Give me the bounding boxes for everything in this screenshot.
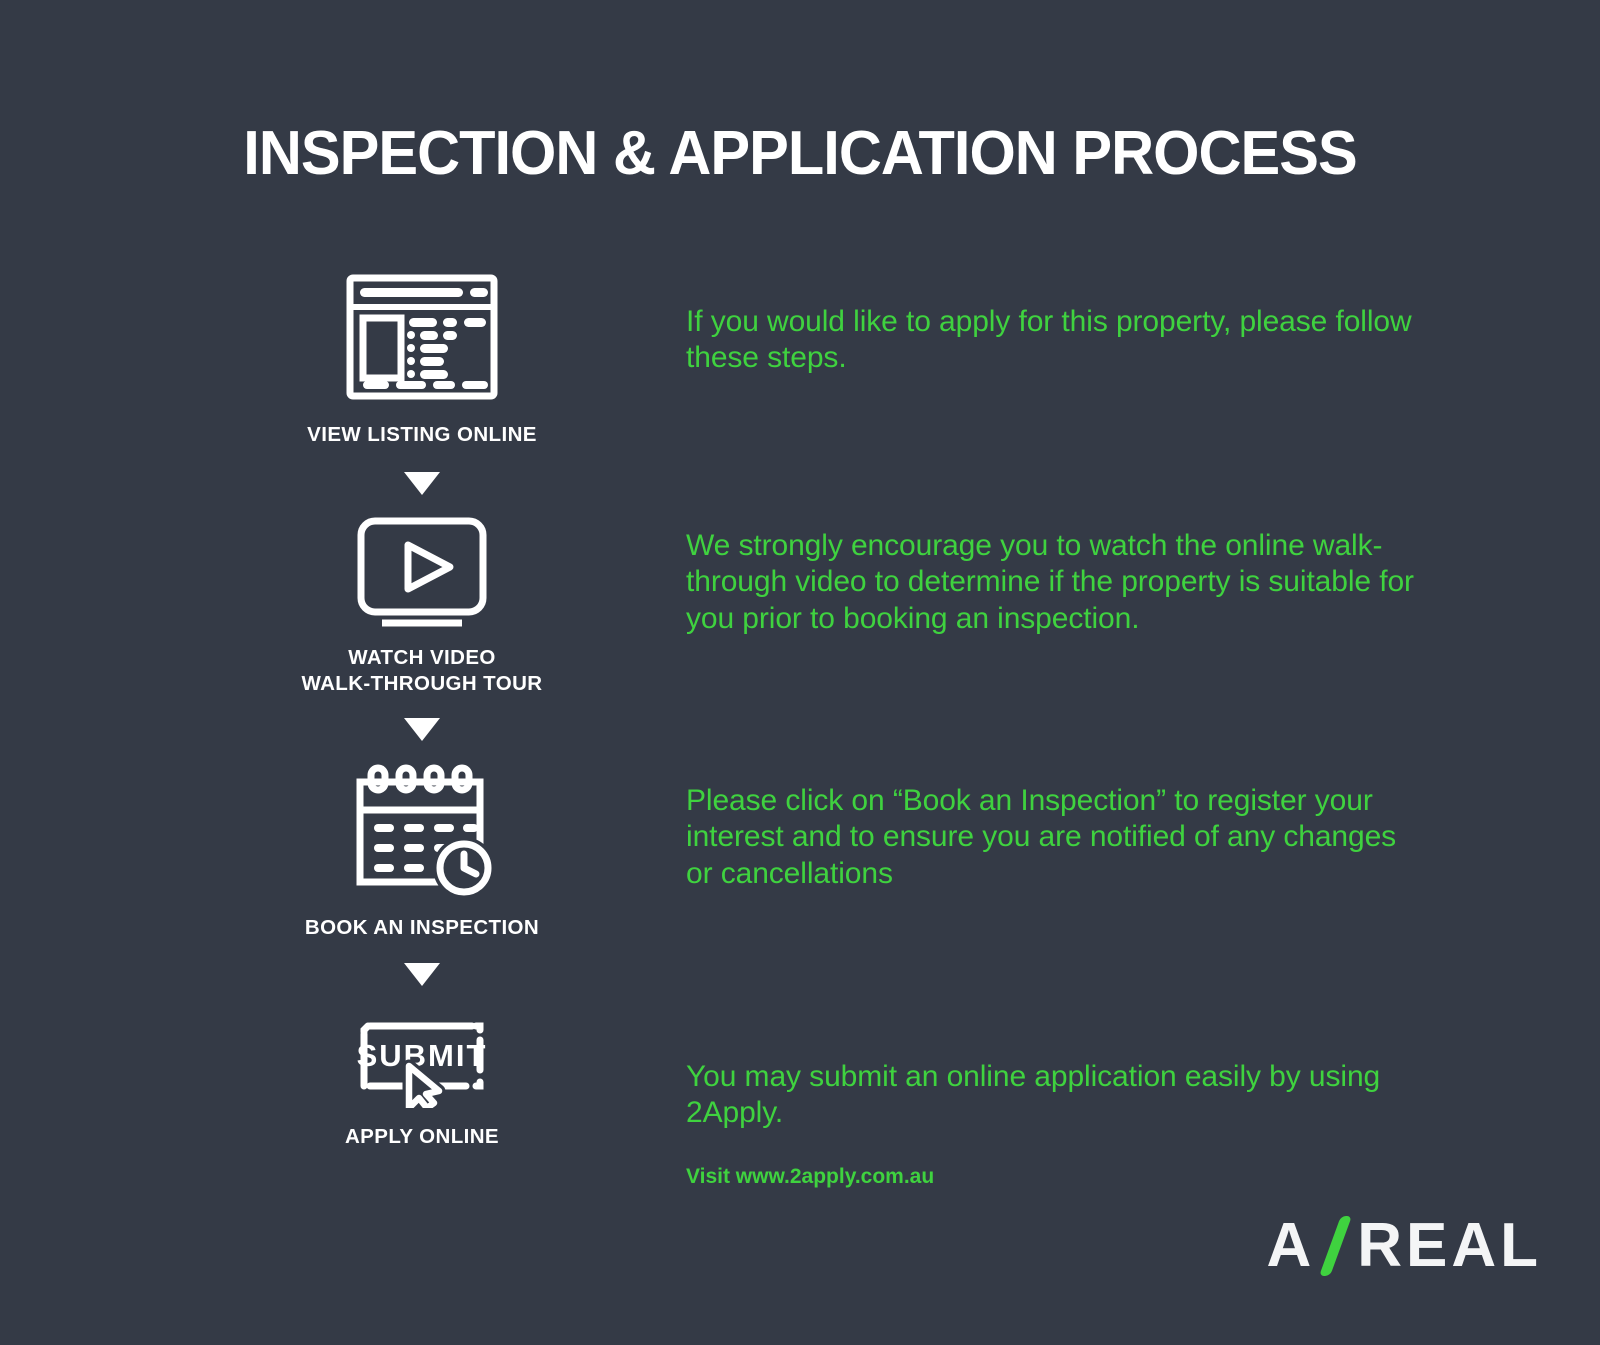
triangle-down-icon (404, 718, 440, 741)
step-label-view-listing-online: VIEW LISTING ONLINE (232, 422, 612, 448)
flow-arrow-2 (232, 718, 612, 741)
copy-apply: You may submit an online application eas… (686, 1059, 1426, 1132)
calendar-clock-icon-wrap (232, 759, 612, 899)
brand-logo: A REAL (1266, 1215, 1542, 1277)
step-label-apply-online: APPLY ONLINE (232, 1124, 612, 1150)
process-flow-steps: VIEW LISTING ONLINE WATCH VIDEO WALK-THR… (232, 262, 612, 1150)
video-play-icon-wrap (232, 517, 612, 635)
listing-window-icon-wrap (232, 262, 612, 412)
step-watch-video: WATCH VIDEO WALK-THROUGH TOUR (232, 517, 612, 697)
logo-slash-icon (1319, 1215, 1353, 1277)
page-title: INSPECTION & APPLICATION PROCESS (32, 118, 1568, 189)
step-label-watch-video-line1: WATCH VIDEO (232, 645, 612, 671)
copy-intro: If you would like to apply for this prop… (686, 304, 1426, 377)
copy-visit-link[interactable]: Visit www.2apply.com.au (686, 1164, 1426, 1189)
step-label-watch-video-line2: WALK-THROUGH TOUR (232, 671, 612, 697)
copy-video: We strongly encourage you to watch the o… (686, 528, 1426, 637)
submit-button-cursor-icon-wrap: SUBMIT (232, 1006, 612, 1110)
flow-arrow-1 (232, 472, 612, 495)
submit-button-cursor-icon: SUBMIT (346, 1008, 498, 1108)
flow-arrow-3 (232, 963, 612, 986)
copy-inspection: Please click on “Book an Inspection” to … (686, 783, 1426, 892)
listing-window-icon (346, 274, 498, 400)
triangle-down-icon (404, 963, 440, 986)
logo-wordmark: REAL (1357, 1215, 1542, 1277)
step-label-watch-video: WATCH VIDEO WALK-THROUGH TOUR (232, 645, 612, 697)
step-view-listing-online: VIEW LISTING ONLINE (232, 262, 612, 448)
step-apply-online: SUBMIT APPLY ONLINE (232, 1006, 612, 1150)
calendar-clock-icon (346, 762, 498, 896)
video-play-icon (346, 517, 498, 635)
triangle-down-icon (404, 472, 440, 495)
submit-icon-label: SUBMIT (357, 1038, 488, 1073)
logo-letter-a: A (1266, 1215, 1315, 1277)
step-label-book-inspection: BOOK AN INSPECTION (232, 915, 612, 941)
step-book-inspection: BOOK AN INSPECTION (232, 759, 612, 941)
